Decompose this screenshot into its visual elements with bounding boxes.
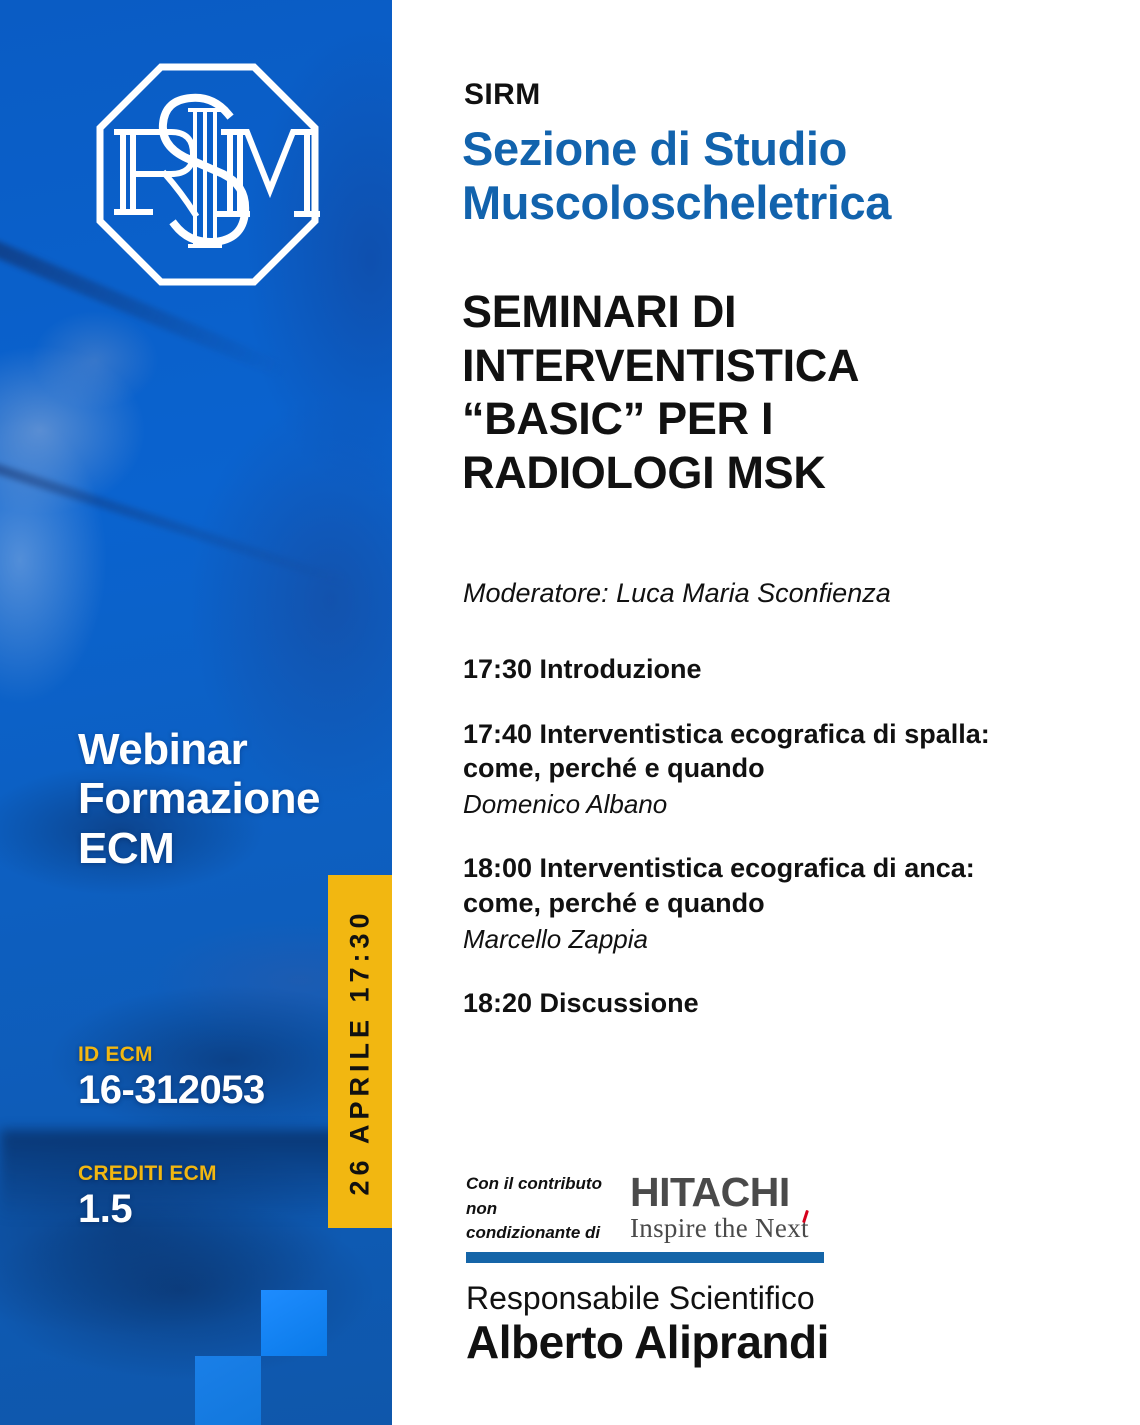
agenda-item-line-2: come, perché e quando <box>463 751 1063 786</box>
decorative-square-upper <box>261 1290 327 1356</box>
responsible-label: Responsabile Scientifico <box>466 1281 829 1316</box>
section-title: Sezione di Studio Muscoloscheletrica <box>462 122 1102 229</box>
section-title-line-2: Muscoloscheletrica <box>462 176 1102 230</box>
agenda-item-line-1: 18:20 Discussione <box>463 986 1063 1021</box>
responsible-name: Alberto Aliprandi <box>466 1317 829 1369</box>
ecm-id-block: ID ECM 16-312053 <box>78 1043 265 1112</box>
sponsor-caption-line-1: Con il contributo <box>466 1172 614 1197</box>
event-title: SEMINARI DI INTERVENTISTICA “BASIC” PER … <box>462 285 1062 499</box>
ecm-id-value: 16-312053 <box>78 1069 265 1112</box>
date-badge: 26 APRILE 17:30 <box>328 875 392 1228</box>
agenda-item-line-1: 17:30 Introduzione <box>463 652 1063 687</box>
ecm-id-label: ID ECM <box>78 1043 265 1067</box>
section-title-line-1: Sezione di Studio <box>462 122 1102 176</box>
webinar-line-3: ECM <box>78 824 348 873</box>
agenda-list: 17:30 Introduzione 17:40 Interventistica… <box>463 652 1063 1021</box>
event-title-line-4: RADIOLOGI MSK <box>462 446 1062 500</box>
webinar-heading: Webinar Formazione ECM <box>78 725 348 873</box>
hitachi-tagline-text: Inspire the Next <box>630 1213 809 1243</box>
agenda-item-line-2: come, perché e quando <box>463 886 1063 921</box>
agenda-item-line-1: 18:00 Interventistica ecografica di anca… <box>463 851 1063 886</box>
hitachi-wordmark: HITACHI <box>630 1173 840 1212</box>
agenda-item: 18:00 Interventistica ecografica di anca… <box>463 851 1063 956</box>
agenda-item-speaker: Marcello Zappia <box>463 923 1063 957</box>
event-title-line-2: INTERVENTISTICA <box>462 339 1062 393</box>
ecm-credits-block: CREDITI ECM 1.5 <box>78 1162 217 1231</box>
hitachi-logo: HITACHI Inspire the Next <box>630 1173 840 1244</box>
date-badge-text: 26 APRILE 17:30 <box>345 908 376 1195</box>
agenda-item: 17:40 Interventistica ecografica di spal… <box>463 717 1063 822</box>
agenda-item-line-1: 17:40 Interventistica ecografica di spal… <box>463 717 1063 752</box>
agenda-item: 18:20 Discussione <box>463 986 1063 1021</box>
event-title-line-1: SEMINARI DI <box>462 285 1062 339</box>
agenda-item: 17:30 Introduzione <box>463 652 1063 687</box>
hitachi-tagline: Inspire the Next <box>630 1213 809 1244</box>
webinar-line-1: Webinar <box>78 725 348 774</box>
sponsor-caption: Con il contributo non condizionante di <box>466 1172 614 1246</box>
ecm-credits-label: CREDITI ECM <box>78 1162 217 1186</box>
moderator-line: Moderatore: Luca Maria Sconfienza <box>463 578 891 609</box>
sponsor-caption-line-2: non condizionante di <box>466 1197 614 1246</box>
agenda-item-speaker: Domenico Albano <box>463 788 1063 822</box>
sponsor-block: Con il contributo non condizionante di H… <box>466 1172 1106 1246</box>
section-divider <box>466 1252 824 1263</box>
scientific-responsible-block: Responsabile Scientifico Alberto Alipran… <box>466 1281 829 1369</box>
decorative-square-lower <box>195 1356 261 1425</box>
sirm-logo <box>95 62 320 287</box>
sirm-kicker: SIRM <box>464 78 541 112</box>
webinar-line-2: Formazione <box>78 774 348 823</box>
ecm-credits-value: 1.5 <box>78 1188 217 1231</box>
event-title-line-3: “BASIC” PER I <box>462 392 1062 446</box>
